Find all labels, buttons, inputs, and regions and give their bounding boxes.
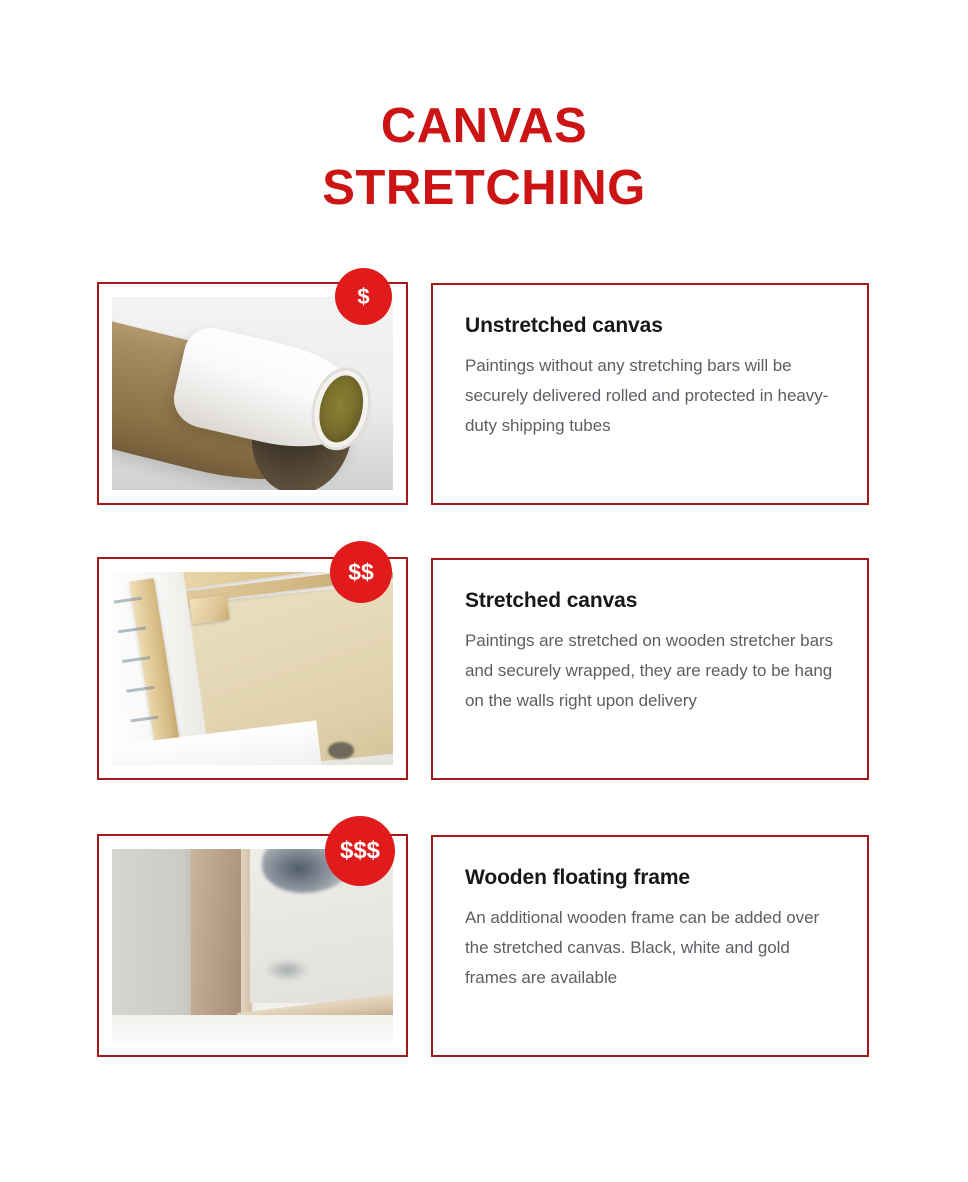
price-badge-label: $$$ [340,839,380,863]
card-heading: Stretched canvas [465,588,835,614]
info-row-stretched-canvas: $$ Stretched canvas Paintings are stretc… [0,557,968,780]
page-title: CANVAS STRETCHING [0,95,968,219]
card-heading: Unstretched canvas [465,313,835,339]
text-card-unstretched-canvas: Unstretched canvas Paintings without any… [431,283,869,505]
wall-shadow-shape [112,849,196,1042]
card-heading: Wooden floating frame [465,865,835,891]
photo-shipping-tube [112,297,393,490]
stretcher-wedge-shape [189,595,229,625]
page-title-line-1: CANVAS [0,95,968,157]
price-badge-tier-1: $ [335,268,392,325]
card-description: Paintings are stretched on wooden stretc… [465,626,835,716]
infographic-page: CANVAS STRETCHING $ Unstretched canvas P… [0,0,968,1182]
page-title-line-2: STRETCHING [0,157,968,219]
text-card-stretched-canvas: Stretched canvas Paintings are stretched… [431,558,869,780]
info-row-wooden-floating-frame: $$$ Wooden floating frame An additional … [0,834,968,1057]
frame-side-edge-shape [191,849,244,1028]
text-card-wooden-floating-frame: Wooden floating frame An additional wood… [431,835,869,1057]
price-badge-label: $$ [348,561,374,584]
card-description: Paintings without any stretching bars wi… [465,351,835,441]
price-badge-tier-3: $$$ [325,816,395,886]
rolled-canvas-end-shape [313,371,369,447]
price-badge-label: $ [357,286,369,308]
info-row-unstretched-canvas: $ Unstretched canvas Paintings without a… [0,282,968,505]
price-badge-tier-2: $$ [330,541,392,603]
artwork-ink-accent-shape [265,959,310,981]
card-description: An additional wooden frame can be added … [465,903,835,993]
floor-surface-shape [112,1015,393,1042]
photo-shadow-detail [328,742,353,759]
